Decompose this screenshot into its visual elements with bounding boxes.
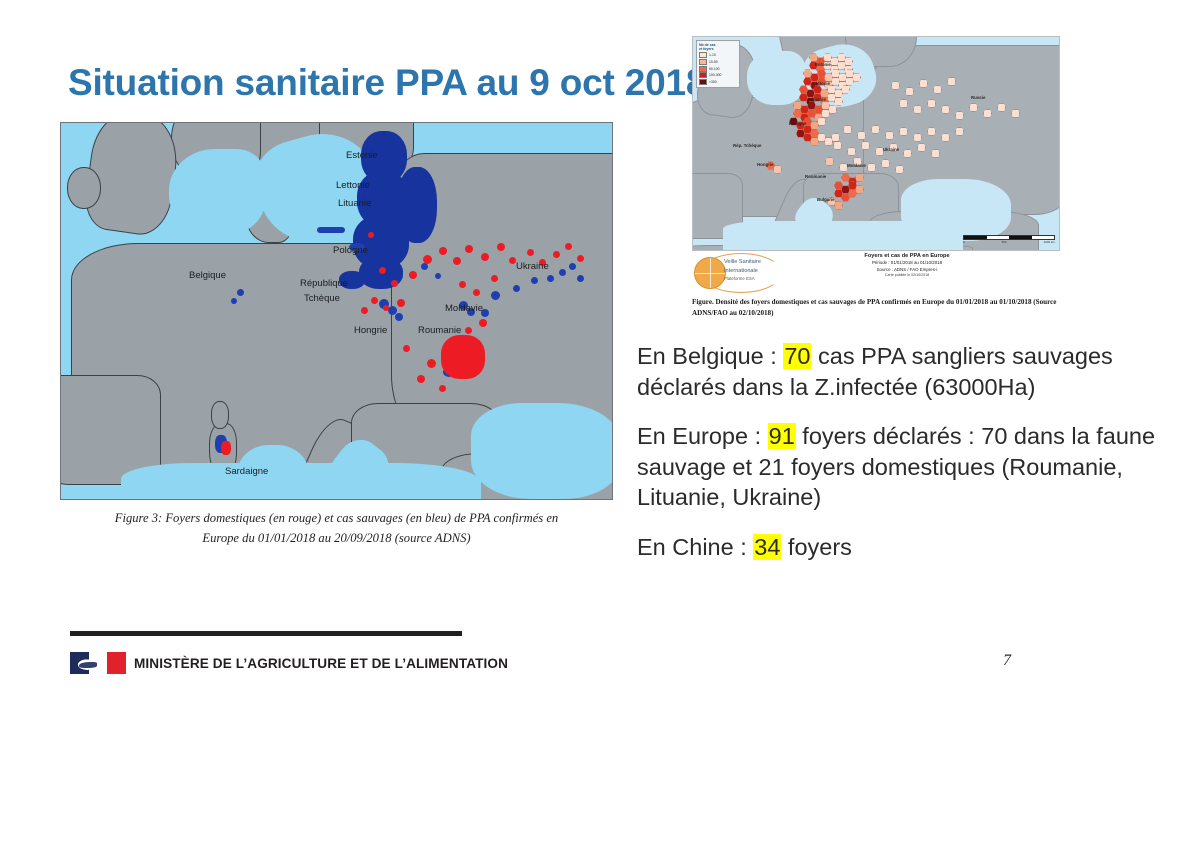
map-label-ukraine: Ukraine (516, 261, 549, 272)
right-map-period: Période : 01/01/2018 au 01/10/2018 (812, 260, 1002, 265)
domestic-outbreak-dot (383, 305, 389, 311)
map-label-sardaigne: Sardaigne (225, 466, 268, 477)
legend-label: 10-50 (709, 60, 718, 64)
domestic-outbreak-dot (368, 232, 374, 238)
legend-row: 1-10 (699, 52, 737, 58)
domestic-outbreak-dot (423, 255, 432, 264)
domestic-outbreak-dot (409, 271, 417, 279)
right-map-source: Source : ADNS / FAO Empres-i (812, 267, 1002, 272)
fact-belgium-highlight: 70 (783, 343, 811, 369)
right-map-title-block: Foyers et cas de PPA en Europe Période :… (812, 253, 1002, 277)
wild-case-dot (547, 275, 554, 282)
map-label-estonie: Estonie (346, 150, 378, 161)
fact-europe: En Europe : 91 foyers déclarés : 70 dans… (637, 421, 1182, 513)
map-label-moldavie: Moldavie (847, 163, 866, 168)
legend-label: 1-10 (709, 53, 716, 57)
legend-swatch (699, 66, 707, 72)
veille-sanitaire-logo: Veille Sanitaire Internationale Platefor… (694, 253, 786, 293)
ministry-name: MINISTÈRE DE L’AGRICULTURE ET DE L’ALIME… (134, 656, 508, 671)
map-label-tcheque: Tchèque (304, 293, 340, 304)
fact-china-suffix: foyers (781, 534, 852, 560)
domestic-outbreak-dot (491, 275, 498, 282)
scalebar-label-min: 0 (963, 240, 965, 244)
map-scalebar: 0 500 1000 km (963, 235, 1055, 245)
legend-swatch (699, 79, 707, 85)
fact-europe-prefix: En Europe : (637, 423, 768, 449)
domestic-outbreak-cluster-romania (441, 335, 485, 379)
french-republic-flag-logo (70, 652, 126, 674)
wild-case-dot (531, 277, 538, 284)
right-figure-caption: Figure. Densité des foyers domestiques e… (692, 297, 1060, 318)
legend-row: 10-50 (699, 59, 737, 65)
map-label-hongrie: Hongrie (354, 325, 387, 336)
domestic-outbreak-dot (361, 307, 368, 314)
right-map-credit-strip: Veille Sanitaire Internationale Platefor… (692, 251, 1060, 295)
map-label-belgique: Belgique (189, 270, 226, 281)
map-label-bulgarie: Bulgarie (817, 197, 835, 202)
domestic-outbreak-dot (527, 249, 534, 256)
domestic-outbreak-dot (453, 257, 461, 265)
page-title: Situation sanitaire PPA au 9 oct 2018 (68, 62, 706, 104)
globe-icon (694, 257, 726, 289)
logo-line1: Veille Sanitaire (724, 258, 761, 267)
domestic-outbreak-dot (379, 267, 386, 274)
scalebar-bar (963, 235, 1055, 240)
sea-north (747, 51, 805, 105)
legend-label: 100-300 (709, 73, 721, 77)
sea-mediterranean (723, 221, 963, 251)
legend-row: 50-100 (699, 66, 737, 72)
landmass-corsica (211, 401, 229, 429)
europe-case-map-adns: Estonie Lettonie Lituanie Pologne Belgiq… (60, 122, 613, 500)
domestic-outbreak-dot (371, 297, 378, 304)
key-figures-text-block: En Belgique : 70 cas PPA sangliers sauva… (637, 341, 1182, 562)
wild-case-dot (421, 263, 428, 270)
domestic-outbreak-dot (481, 253, 489, 261)
domestic-outbreak-dot-sardinia (221, 441, 231, 455)
domestic-outbreak-dot (479, 319, 487, 327)
domestic-outbreak-dot (439, 247, 447, 255)
legend-row: 100-300 (699, 72, 737, 78)
wild-case-cluster-belarus (397, 167, 437, 243)
map-label-roumanie: Roumanie (418, 325, 461, 336)
wild-case-dot-belgium (237, 289, 244, 296)
domestic-outbreak-dot (473, 289, 480, 296)
wild-case-dot (491, 291, 500, 300)
europe-density-map-adns-fao: Nb de cas et foyers 1-10 10-50 50-100 10… (692, 36, 1060, 251)
fact-belgium: En Belgique : 70 cas PPA sangliers sauva… (637, 341, 1182, 402)
map-label-roumanie: Roumanie (805, 174, 826, 179)
sea-north (169, 149, 265, 235)
legend-swatch (699, 52, 707, 58)
domestic-outbreak-dot (509, 257, 516, 264)
scalebar-label-mid: 500 (1002, 240, 1007, 244)
map-label-pologne: Pologne (333, 245, 368, 256)
legend-row: >300 (699, 79, 737, 85)
map-label-lettonie: Lettonie (336, 180, 370, 191)
domestic-outbreak-dot (553, 251, 560, 258)
map-label-hongrie: Hongrie (757, 162, 774, 167)
left-map-figure: Estonie Lettonie Lituanie Pologne Belgiq… (60, 122, 613, 549)
wild-case-dot (435, 273, 441, 279)
wild-case-dot (569, 263, 576, 270)
wild-case-dot (513, 285, 520, 292)
wild-case-dot (559, 269, 566, 276)
page-number: 7 (1003, 652, 1011, 670)
landmass-ireland (67, 167, 101, 209)
footer-divider (70, 631, 462, 636)
scalebar-label-max: 1000 km (1043, 240, 1055, 244)
right-map-figure: Nb de cas et foyers 1-10 10-50 50-100 10… (692, 36, 1060, 318)
legend-swatch (699, 72, 707, 78)
left-caption-line1: Figure 3: Foyers domestiques (en rouge) … (115, 511, 558, 525)
wild-case-dot (395, 313, 403, 321)
legend-title-line2: et foyers (699, 47, 737, 51)
domestic-outbreak-dot (391, 280, 398, 287)
fact-europe-highlight: 91 (768, 423, 796, 449)
marianne-icon (78, 655, 104, 671)
domestic-outbreak-dot (403, 345, 410, 352)
map-label-moldavie: Moldavie (445, 303, 483, 314)
sea-black (471, 403, 613, 499)
logo-text: Veille Sanitaire Internationale Platefor… (724, 258, 761, 283)
domestic-outbreak-dot (497, 243, 505, 251)
footer: MINISTÈRE DE L’AGRICULTURE ET DE L’ALIME… (70, 652, 508, 674)
left-caption-line2: Europe du 01/01/2018 au 20/09/2018 (sour… (202, 531, 470, 545)
map-label-republique: République (300, 278, 348, 289)
domestic-outbreak-dot (417, 375, 425, 383)
fact-china-highlight: 34 (753, 534, 781, 560)
map-label-lettonie: Lettonie (813, 81, 830, 86)
legend-label: >300 (709, 80, 717, 84)
map-label-estonie: Estonie (815, 62, 831, 67)
legend-label: 50-100 (709, 67, 720, 71)
fact-china: En Chine : 34 foyers (637, 532, 1182, 563)
wild-case-dot (577, 275, 584, 282)
map-label-russie: Russie (971, 95, 985, 100)
right-map-published: Carte publiée le 02/10/2018 (812, 273, 1002, 277)
domestic-outbreak-dot (577, 255, 584, 262)
domestic-outbreak-dot (427, 359, 436, 368)
domestic-outbreak-dot (459, 281, 466, 288)
logo-line3: Plateforme ESA (724, 276, 761, 283)
wild-case-dot-belgium (231, 298, 237, 304)
scalebar-labels: 0 500 1000 km (963, 240, 1055, 244)
domestic-outbreak-dot (439, 385, 446, 392)
legend-swatch (699, 59, 707, 65)
fact-belgium-prefix: En Belgique : (637, 343, 783, 369)
map-label-rep-tcheque: Rép. Tchèque (733, 143, 761, 148)
domestic-outbreak-dot (565, 243, 572, 250)
wild-case-dot (317, 227, 345, 233)
domestic-outbreak-dot (397, 299, 405, 307)
domestic-outbreak-dot (465, 327, 472, 334)
domestic-outbreak-dot (465, 245, 473, 253)
map-label-ukraine: Ukraine (883, 147, 899, 152)
map-label-lituanie: Lituanie (338, 198, 371, 209)
map-legend: Nb de cas et foyers 1-10 10-50 50-100 10… (696, 40, 740, 88)
logo-line2: Internationale (724, 267, 761, 276)
map-label-pologne: Pologne (789, 121, 806, 126)
fact-china-prefix: En Chine : (637, 534, 753, 560)
right-map-title: Foyers et cas de PPA en Europe (812, 253, 1002, 259)
map-label-lituanie: Lituanie (809, 97, 826, 102)
left-figure-caption: Figure 3: Foyers domestiques (en rouge) … (60, 508, 613, 549)
